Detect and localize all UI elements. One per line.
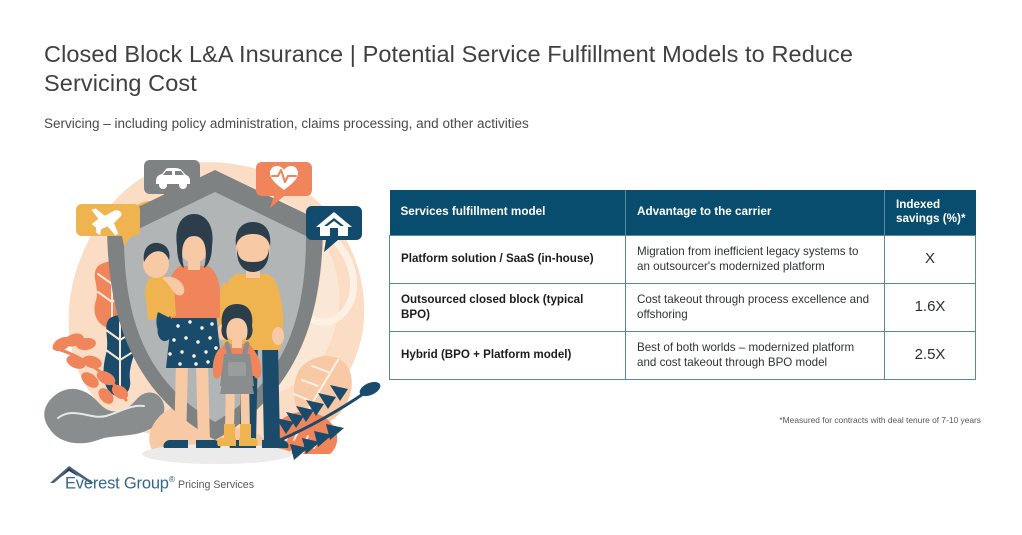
logo-registered-mark: ® [169, 474, 175, 484]
table-row: Hybrid (BPO + Platform model) Best of bo… [390, 332, 976, 380]
cell-savings: 2.5X [885, 332, 976, 380]
cell-model: Hybrid (BPO + Platform model) [390, 332, 626, 380]
table-header-row: Services fulfillment model Advantage to … [390, 190, 976, 236]
cell-advantage: Migration from inefficient legacy system… [626, 236, 885, 284]
page-subtitle: Servicing – including policy administrat… [44, 115, 684, 133]
everest-group-logo: Everest Group®Pricing Services [49, 464, 249, 496]
logo-tagline: Pricing Services [178, 479, 254, 491]
cell-model: Outsourced closed block (typical BPO) [390, 284, 626, 332]
family-insurance-illustration [40, 148, 390, 473]
column-header-savings: Indexed savings (%)* [885, 190, 976, 236]
cell-advantage: Best of both worlds – modernized platfor… [626, 332, 885, 380]
cell-advantage: Cost takeout through process excellence … [626, 284, 885, 332]
cell-savings: X [885, 236, 976, 284]
footnote: *Measured for contracts with deal tenure… [766, 415, 981, 426]
column-header-advantage: Advantage to the carrier [626, 190, 885, 236]
service-models-table: Services fulfillment model Advantage to … [389, 190, 976, 380]
table-row: Platform solution / SaaS (in-house) Migr… [390, 236, 976, 284]
page-title: Closed Block L&A Insurance | Potential S… [44, 40, 874, 98]
column-header-model: Services fulfillment model [390, 190, 626, 236]
cell-model: Platform solution / SaaS (in-house) [390, 236, 626, 284]
logo-name: Everest Group [65, 474, 169, 492]
table-row: Outsourced closed block (typical BPO) Co… [390, 284, 976, 332]
cell-savings: 1.6X [885, 284, 976, 332]
